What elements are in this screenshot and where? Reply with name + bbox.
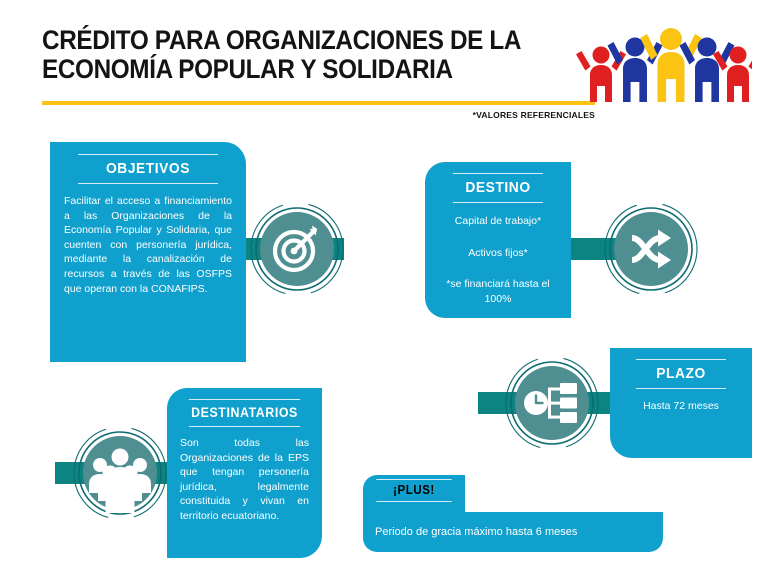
badge-destino xyxy=(603,201,699,297)
header-note: *VALORES REFERENCIALES xyxy=(42,110,595,120)
card-plus-bar[interactable]: Periodo de gracia máximo hasta 6 meses xyxy=(363,512,663,552)
card-destino-line-1: Capital de trabajo* xyxy=(437,214,559,229)
badge-plazo xyxy=(504,355,600,451)
card-objetivos-title: OBJETIVOS xyxy=(78,154,218,184)
card-destino-body: Capital de trabajo* Activos fijos* *se f… xyxy=(437,214,559,306)
badge-destinatarios xyxy=(72,425,168,521)
card-destinatarios-title: DESTINATARIOS xyxy=(189,399,300,427)
card-destino-line-3: *se financiará hasta el 100% xyxy=(437,277,559,306)
card-plazo-title: PLAZO xyxy=(636,359,726,389)
card-destinatarios[interactable]: DESTINATARIOS Son todas las Organizacion… xyxy=(167,388,322,558)
card-plus-body: Periodo de gracia máximo hasta 6 meses xyxy=(375,525,577,540)
card-destino-line-2: Activos fijos* xyxy=(437,246,559,261)
card-objetivos[interactable]: OBJETIVOS Facilitar el acceso a financia… xyxy=(50,142,246,362)
card-plazo-body: Hasta 72 meses xyxy=(622,399,740,414)
card-destinatarios-body: Son todas las Organizaciones de la EPS q… xyxy=(180,436,309,524)
card-plus-title: ¡PLUS! xyxy=(376,479,451,502)
card-destino[interactable]: DESTINO Capital de trabajo* Activos fijo… xyxy=(425,162,571,318)
page-title: CRÉDITO PARA ORGANIZACIONES DE LA ECONOM… xyxy=(42,26,528,84)
card-plus-tab[interactable]: ¡PLUS! xyxy=(363,475,465,513)
card-plazo[interactable]: PLAZO Hasta 72 meses xyxy=(610,348,752,458)
people-celebrating-icon xyxy=(572,22,752,104)
title-underline-rule xyxy=(42,101,595,105)
card-destino-title: DESTINO xyxy=(453,173,543,203)
badge-objetivos xyxy=(249,201,345,297)
card-objetivos-body: Facilitar el acceso a financiamiento a l… xyxy=(64,194,232,296)
header: CRÉDITO PARA ORGANIZACIONES DE LA ECONOM… xyxy=(0,0,768,130)
